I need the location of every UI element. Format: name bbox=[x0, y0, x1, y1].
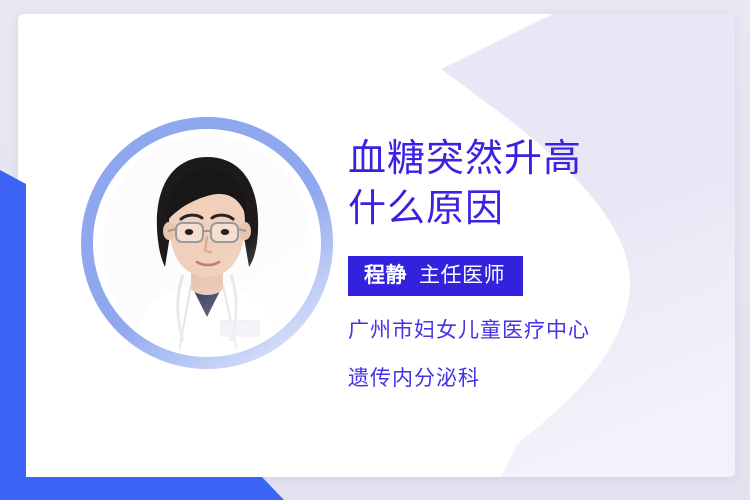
accent-bar-left bbox=[0, 184, 26, 500]
doctor-affiliation: 广州市妇女儿童医疗中心 遗传内分泌科 bbox=[348, 320, 708, 389]
hospital-name: 广州市妇女儿童医疗中心 bbox=[348, 320, 708, 341]
accent-bar-left-tip bbox=[0, 170, 26, 184]
accent-bar-bottom-tip bbox=[262, 477, 284, 500]
doctor-name: 程静 bbox=[364, 265, 407, 286]
department-name: 遗传内分泌科 bbox=[348, 368, 708, 389]
poster-canvas: 血糖突然升高 什么原因 程静 主任医师 广州市妇女儿童医疗中心 遗传内分泌科 bbox=[0, 0, 750, 500]
doctor-portrait bbox=[81, 117, 333, 369]
doctor-badge: 程静 主任医师 bbox=[348, 256, 523, 296]
doctor-job-title: 主任医师 bbox=[419, 265, 505, 286]
portrait-illustration bbox=[103, 135, 311, 351]
portrait-photo bbox=[103, 135, 311, 351]
doctor-info-card: 血糖突然升高 什么原因 程静 主任医师 广州市妇女儿童医疗中心 遗传内分泌科 bbox=[18, 14, 735, 477]
accent-bar-bottom bbox=[0, 477, 262, 500]
info-content: 血糖突然升高 什么原因 程静 主任医师 广州市妇女儿童医疗中心 遗传内分泌科 bbox=[348, 134, 708, 389]
question-title: 血糖突然升高 什么原因 bbox=[348, 134, 708, 234]
